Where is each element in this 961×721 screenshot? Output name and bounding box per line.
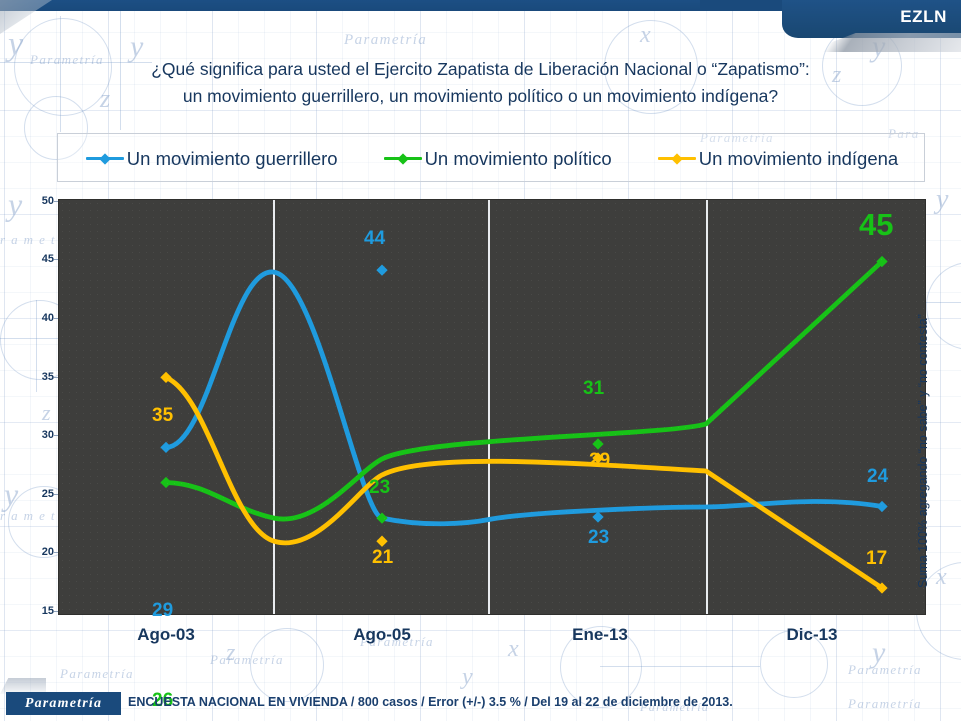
banner-title: EZLN — [900, 7, 947, 27]
watermark-word: Parametría — [210, 652, 284, 668]
y-tick-label: 30 — [24, 429, 54, 441]
chart-sidenote: Suma 100% agregando “no sabe” y “no cont… — [916, 238, 930, 588]
watermark-glyph: y — [936, 184, 948, 216]
parametria-logo: Parametría — [6, 692, 121, 715]
legend-label-guerrillero: Un movimiento guerrillero — [127, 148, 338, 170]
data-label-indigena-0: 35 — [152, 405, 173, 427]
data-label-politico-3: 45 — [859, 207, 893, 243]
watermark-word: Parametría — [60, 666, 134, 682]
legend-label-politico: Un movimiento político — [425, 148, 612, 170]
page-title-line1: ¿Qué significa para usted el Ejercito Za… — [151, 59, 810, 79]
data-label-indigena-2: 29 — [589, 450, 610, 472]
legend-item-politico[interactable]: Un movimiento político — [384, 148, 612, 170]
watermark-line — [600, 666, 760, 667]
watermark-glyph: x — [508, 636, 519, 663]
legend-item-indigena[interactable]: Un movimiento indígena — [658, 148, 899, 170]
watermark-glyph: z — [42, 400, 51, 426]
legend-label-indigena: Un movimiento indígena — [699, 148, 899, 170]
y-tick-label: 35 — [24, 371, 54, 383]
chart-series-overlay — [59, 200, 925, 614]
page-title-line2: un movimiento guerrillero, un movimiento… — [60, 83, 901, 110]
top-banner: EZLN — [0, 0, 961, 46]
watermark-word: r a m e t r — [0, 508, 67, 524]
data-label-guerrillero-0: 29 — [152, 600, 173, 622]
footer-bar: Parametría ENCUESTA NACIONAL EN VIVIENDA… — [0, 690, 961, 721]
x-tick-label-2: Ene-13 — [530, 625, 670, 645]
data-label-politico-1: 23 — [369, 477, 390, 499]
legend-marker-icon — [86, 152, 124, 166]
watermark-word: Parametría — [848, 662, 922, 678]
y-tick-label: 50 — [24, 195, 54, 207]
watermark-glyph: y — [462, 664, 473, 691]
banner-corner-shadow — [0, 0, 52, 34]
legend-marker-icon — [384, 152, 422, 166]
x-tick-label-3: Dic-13 — [742, 625, 882, 645]
y-tick-label: 40 — [24, 312, 54, 324]
data-label-indigena-3: 17 — [866, 548, 887, 570]
y-tick-label: 15 — [24, 605, 54, 617]
x-tick-label-1: Ago-05 — [312, 625, 452, 645]
banner-strip-left — [0, 0, 790, 11]
data-label-politico-2: 31 — [583, 378, 604, 400]
page-title: ¿Qué significa para usted el Ejercito Za… — [60, 56, 901, 110]
y-tick-label: 25 — [24, 488, 54, 500]
chart-legend: Un movimiento guerrillero Un movimiento … — [57, 133, 925, 182]
watermark-circle — [926, 262, 961, 350]
chart-plot-area: 35 44 29 26 23 21 31 29 23 24 45 17 — [59, 200, 925, 614]
y-tick-label: 20 — [24, 546, 54, 558]
legend-item-guerrillero[interactable]: Un movimiento guerrillero — [86, 148, 338, 170]
watermark-glyph: x — [936, 564, 947, 591]
y-tick-label: 45 — [24, 253, 54, 265]
footer-source-text: ENCUESTA NACIONAL EN VIVIENDA / 800 caso… — [128, 695, 733, 709]
data-label-guerrillero-2: 23 — [588, 527, 609, 549]
legend-marker-icon — [658, 152, 696, 166]
data-label-indigena-1: 21 — [372, 547, 393, 569]
watermark-glyph: y — [4, 476, 18, 513]
watermark-glyph: y — [8, 186, 22, 223]
x-tick-label-0: Ago-03 — [96, 625, 236, 645]
data-label-guerrillero-3: 24 — [867, 466, 888, 488]
data-label-guerrillero-1: 44 — [364, 228, 385, 250]
banner-panel: EZLN — [782, 0, 961, 38]
